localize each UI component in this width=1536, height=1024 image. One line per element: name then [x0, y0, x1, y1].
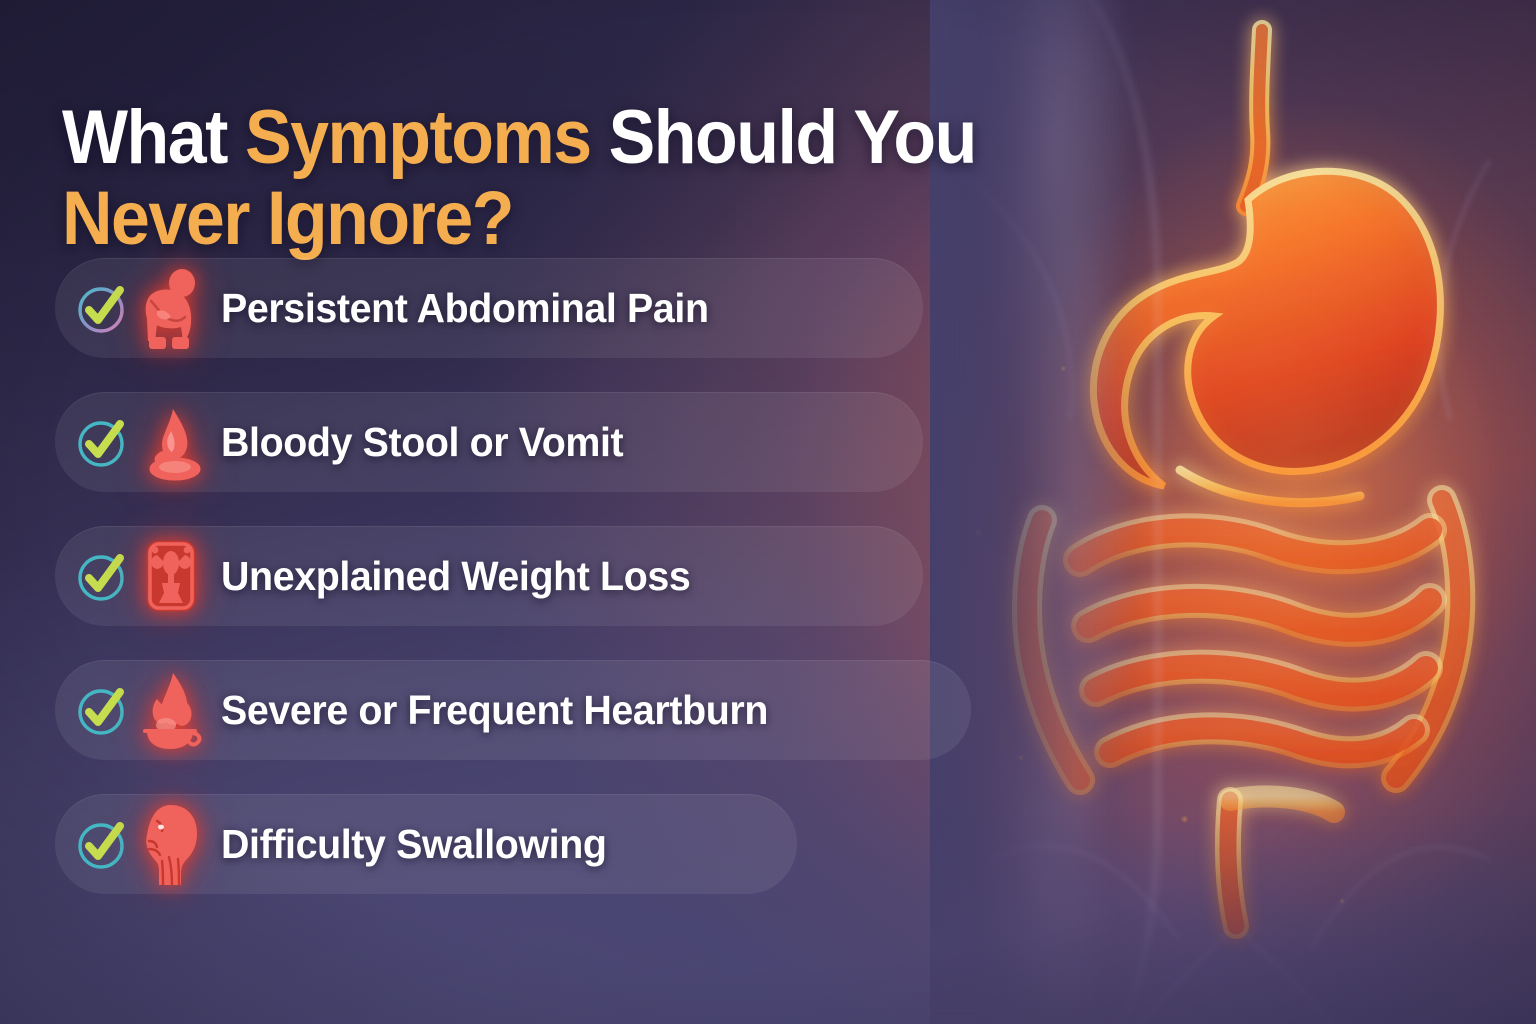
list-item[interactable]: Severe or Frequent Heartburn — [55, 660, 791, 760]
title-text-accent: Symptoms — [245, 95, 591, 180]
title-text-post: Should You — [591, 95, 976, 180]
list-item[interactable]: Unexplained Weight Loss — [55, 526, 791, 626]
page-title: What Symptoms Should You Never Ignore? — [62, 97, 1092, 260]
check-circle-icon — [73, 413, 131, 471]
check-circle-icon — [73, 547, 131, 605]
list-item[interactable]: Difficulty Swallowing — [55, 794, 791, 894]
infographic-root: What Symptoms Should You Never Ignore? — [0, 0, 1536, 1024]
weight-scale-icon — [135, 535, 207, 617]
symptom-label: Severe or Frequent Heartburn — [221, 687, 768, 734]
check-circle-icon — [73, 815, 131, 873]
flame-over-bowl-icon — [135, 669, 207, 751]
check-circle-icon — [73, 279, 131, 337]
title-line-2: Never Ignore? — [62, 178, 1092, 259]
title-text-pre: What — [62, 95, 245, 180]
list-item[interactable]: Bloody Stool or Vomit — [55, 392, 791, 492]
title-line-1: What Symptoms Should You — [62, 97, 1092, 178]
check-circle-icon — [73, 681, 131, 739]
person-clutching-abdomen-icon — [135, 267, 207, 349]
symptom-label: Bloody Stool or Vomit — [221, 419, 623, 466]
list-item[interactable]: Persistent Abdominal Pain — [55, 258, 791, 358]
symptom-list: Persistent Abdominal Pain — [55, 258, 791, 928]
symptom-label: Persistent Abdominal Pain — [221, 285, 709, 332]
head-throat-profile-icon — [135, 803, 207, 885]
blood-drop-flame-icon — [135, 401, 207, 483]
symptom-label: Difficulty Swallowing — [221, 821, 607, 868]
symptom-label: Unexplained Weight Loss — [221, 553, 690, 600]
